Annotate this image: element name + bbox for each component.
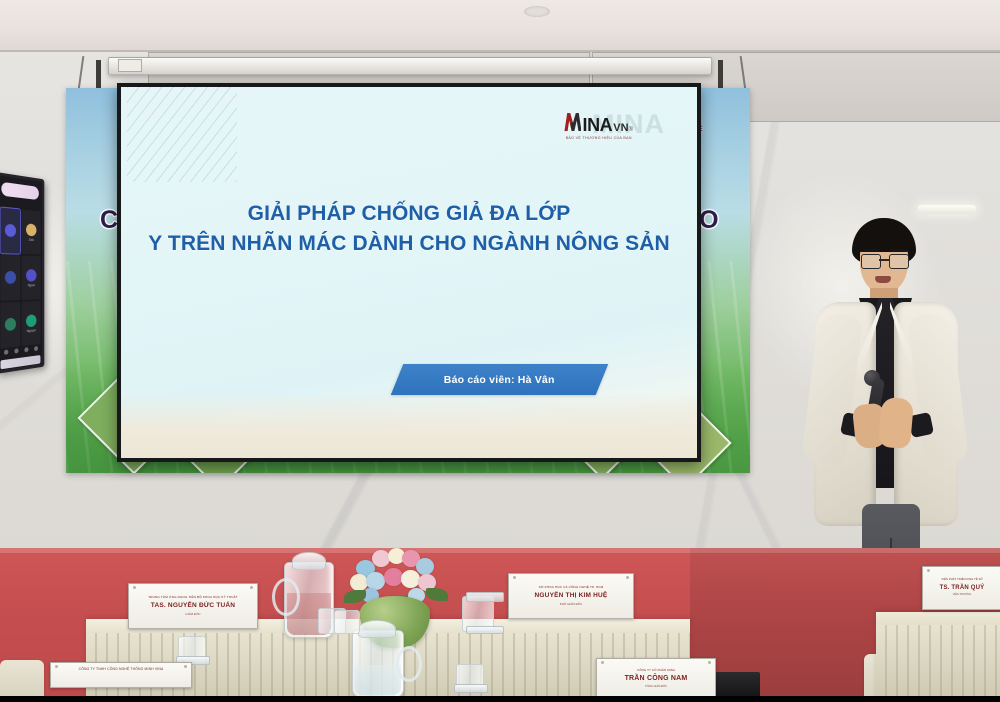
pitcher-1-handle — [272, 578, 300, 616]
nameplate-tran-quy: VIỆN PHÁT TRIỂN KINH TẾ SỐ TS. TRẦN QUÝ … — [922, 566, 1000, 610]
taskbar-icon-2[interactable] — [14, 348, 18, 353]
presenter-mouth — [875, 276, 891, 283]
nameplate-name-1: TAS. NGUYỄN ĐỨC TUẤN — [151, 602, 235, 609]
nameplate-role-2: PHÓ GIÁM ĐỐC — [560, 603, 583, 606]
nameplate-pin-left-4 — [55, 665, 58, 668]
leaf-1 — [344, 590, 366, 603]
nameplate-pin-left-3 — [927, 569, 930, 572]
app-icon-4 — [26, 269, 36, 281]
presenter-brow-right — [890, 249, 907, 252]
nameplate-org-1: TRUNG TÂM ỨNG DỤNG TIẾN BỘ KHOA HỌC KỸ T… — [148, 596, 238, 599]
nameplate-role-1: GIÁM ĐỐC — [185, 613, 200, 616]
glasses-lens-left — [861, 254, 881, 269]
drinking-glass-2 — [334, 610, 360, 634]
pitcher-2-contents — [355, 665, 401, 695]
app-icon-5 — [5, 317, 16, 331]
glass-tray-2 — [466, 626, 504, 634]
app-label-6: Nguyen — [27, 328, 36, 333]
pitcher-2-handle — [396, 646, 422, 682]
taskbar-icon-1[interactable] — [4, 350, 8, 355]
presenter-brow-left — [863, 249, 880, 252]
nameplate-name-2: NGUYỄN THỊ KIM HUỆ — [535, 592, 608, 599]
nameplate-nguyen-thi-kim-hue: SỞ KHOA HỌC VÀ CÔNG NGHỆ TP. HCM NGUYỄN … — [508, 573, 634, 619]
monitor-app-1[interactable] — [0, 207, 20, 253]
projection-screen-surface: MINA INA VN ® BẢO VỆ THƯƠNG HIỆU CỦA BẠN… — [121, 87, 697, 458]
panel-table-right — [876, 612, 1000, 702]
app-icon-3 — [5, 271, 16, 284]
monitor-app-4[interactable]: Nguoi — [22, 256, 41, 300]
monitor-app-5[interactable] — [0, 302, 20, 349]
monitor-app-grid[interactable]: Zalo Nguoi Nguyen — [0, 207, 40, 344]
presenter-glasses-icon — [861, 254, 907, 267]
nameplate-name-5: TRẦN CÔNG NAM — [625, 675, 688, 683]
nameplate-org-4: CÔNG TY TNHH CÔNG NGHỆ THÔNG MINH VINA — [79, 668, 164, 672]
leaf-2 — [426, 588, 448, 601]
ceiling — [0, 0, 1000, 52]
app-icon-1 — [5, 223, 16, 236]
nameplate-org-5: CÔNG TY CỔ PHẦN MINA — [637, 669, 675, 672]
app-icon-6 — [26, 314, 36, 327]
nameplate-org-2: SỞ KHOA HỌC VÀ CÔNG NGHỆ TP. HCM — [539, 586, 604, 589]
slide-bottom-strip — [121, 396, 697, 458]
mina-suffix: VN — [613, 123, 628, 134]
nameplate-role-5: TỔNG GIÁM ĐỐC — [645, 686, 667, 689]
flower-9 — [401, 570, 420, 588]
presentation-slide: MINA INA VN ® BẢO VỆ THƯƠNG HIỆU CỦA BẠN… — [121, 87, 697, 458]
flower-2 — [372, 550, 390, 567]
taskbar-icon-4[interactable] — [34, 346, 38, 351]
nameplate-pin-right-5 — [708, 661, 711, 664]
app-icon-2 — [26, 223, 36, 236]
slide-decor-lines — [127, 87, 237, 182]
glass-tray-4 — [454, 684, 488, 693]
mina-wordmark: INA — [582, 116, 612, 134]
monitor-address-bar[interactable] — [1, 182, 38, 200]
nameplate-name-3: TS. TRẦN QUÝ — [940, 585, 985, 592]
nameplate-pin-right-1 — [250, 586, 253, 589]
nameplate-pin-left-1 — [133, 586, 136, 589]
monitor-app-3[interactable] — [0, 255, 20, 301]
presenter-hand-right — [878, 397, 914, 450]
slide-title-line2: Y TRÊN NHÃN MÁC DÀNH CHO NGÀNH NÔNG SẢN — [121, 229, 697, 259]
presenter-banner: Báo cáo viên: Hà Vân — [391, 364, 609, 395]
nameplate-tran-cong-nam: CÔNG TY CỔ PHẦN MINA TRẦN CÔNG NAM TỔNG … — [596, 658, 716, 700]
projector-screen-housing — [108, 57, 712, 75]
nameplate-pin-left-2 — [513, 576, 516, 579]
pitcher-1-lid — [292, 552, 326, 570]
mina-logo-row: INA VN ® — [564, 113, 633, 134]
screenshot-root: CHỦ CAO NG NGHỆ MINA INA VN ® B — [0, 0, 1000, 702]
flower-5 — [416, 558, 434, 575]
slide-title: GIẢI PHÁP CHỐNG GIẢ ĐA LỚP Y TRÊN NHÃN M… — [121, 199, 697, 259]
projector-screen-motor-box — [118, 59, 142, 72]
monitor-app-6[interactable]: Nguyen — [22, 301, 41, 346]
light-fixture — [918, 205, 976, 214]
app-label-4: Nguoi — [28, 283, 35, 287]
table-skirt-right — [876, 625, 1000, 702]
nameplate-pin-right-4 — [184, 665, 187, 668]
nameplate-cong-ty-vina: CÔNG TY TNHH CÔNG NGHỆ THÔNG MINH VINA — [50, 662, 192, 688]
taskbar-icon-3[interactable] — [24, 347, 28, 352]
nameplate-pin-right-2 — [626, 576, 629, 579]
mina-tagline: BẢO VỆ THƯƠNG HIỆU CỦA BẠN — [564, 136, 633, 140]
slide-title-line1: GIẢI PHÁP CHỐNG GIẢ ĐA LỚP — [248, 202, 571, 225]
wall-monitor[interactable]: Zalo Nguoi Nguyen — [0, 172, 44, 374]
glasses-bridge — [879, 259, 889, 261]
mina-m-mark-icon — [564, 113, 581, 131]
app-label-2: Zalo — [29, 237, 34, 241]
monitor-app-2[interactable]: Zalo — [22, 210, 41, 255]
letterbox-bottom — [0, 696, 1000, 702]
presenter-banner-label: Báo cáo viên: Hà Vân — [444, 374, 555, 386]
glasses-lens-right — [889, 254, 909, 269]
glass-tray-1 — [466, 592, 504, 602]
pitcher-2-lid — [358, 620, 396, 638]
nameplate-pin-left-5 — [601, 661, 604, 664]
mina-registered-icon: ® — [629, 127, 633, 133]
ceiling-speaker-icon — [524, 6, 550, 17]
projection-screen: MINA INA VN ® BẢO VỆ THƯƠNG HIỆU CỦA BẠN… — [117, 83, 701, 462]
nameplate-role-3: VIỆN TRƯỞNG — [953, 594, 972, 597]
nameplate-nguyen-duc-tuan: TRUNG TÂM ỨNG DỤNG TIẾN BỘ KHOA HỌC KỸ T… — [128, 583, 258, 629]
mina-logo: INA VN ® BẢO VỆ THƯƠNG HIỆU CỦA BẠN — [564, 113, 633, 140]
nameplate-org-3: VIỆN PHÁT TRIỂN KINH TẾ SỐ — [941, 579, 982, 582]
